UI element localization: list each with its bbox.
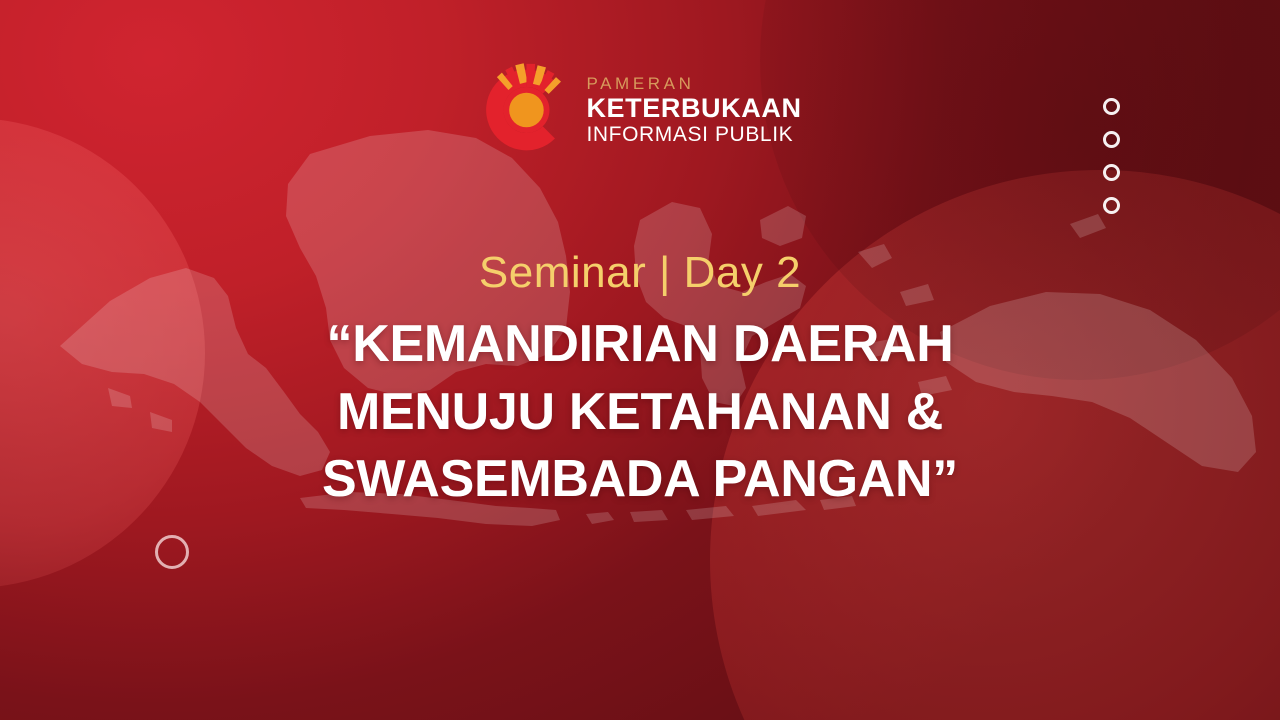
dot-column-decoration (1103, 98, 1120, 214)
circle-outline-icon (1103, 98, 1120, 115)
session-eyebrow: Seminar | Day 2 (90, 248, 1190, 297)
circle-outline-icon (1103, 164, 1120, 181)
page-title: “KEMANDIRIAN DAERAH MENUJU KETAHANAN & S… (90, 311, 1190, 514)
logo-wordmark: PAMERAN KETERBUKAAN INFORMASI PUBLIK (586, 75, 801, 145)
pameran-logo-icon (478, 62, 574, 158)
headline-block: Seminar | Day 2 “KEMANDIRIAN DAERAH MENU… (0, 248, 1280, 514)
event-logo-lockup: PAMERAN KETERBUKAAN INFORMASI PUBLIK (478, 62, 801, 158)
logo-line-informasi: INFORMASI PUBLIK (586, 124, 801, 145)
circle-outline-icon (1103, 131, 1120, 148)
logo-line-keterbukaan: KETERBUKAAN (586, 95, 801, 122)
title-line-1: “KEMANDIRIAN DAERAH (90, 311, 1190, 379)
title-line-2: MENUJU KETAHANAN & (90, 379, 1190, 447)
title-line-3: SWASEMBADA PANGAN” (90, 446, 1190, 514)
logo-line-pameran: PAMERAN (586, 75, 801, 92)
seminar-title-slide: PAMERAN KETERBUKAAN INFORMASI PUBLIK Sem… (0, 0, 1280, 720)
circle-outline-large-icon (155, 535, 189, 569)
circle-outline-icon (1103, 197, 1120, 214)
